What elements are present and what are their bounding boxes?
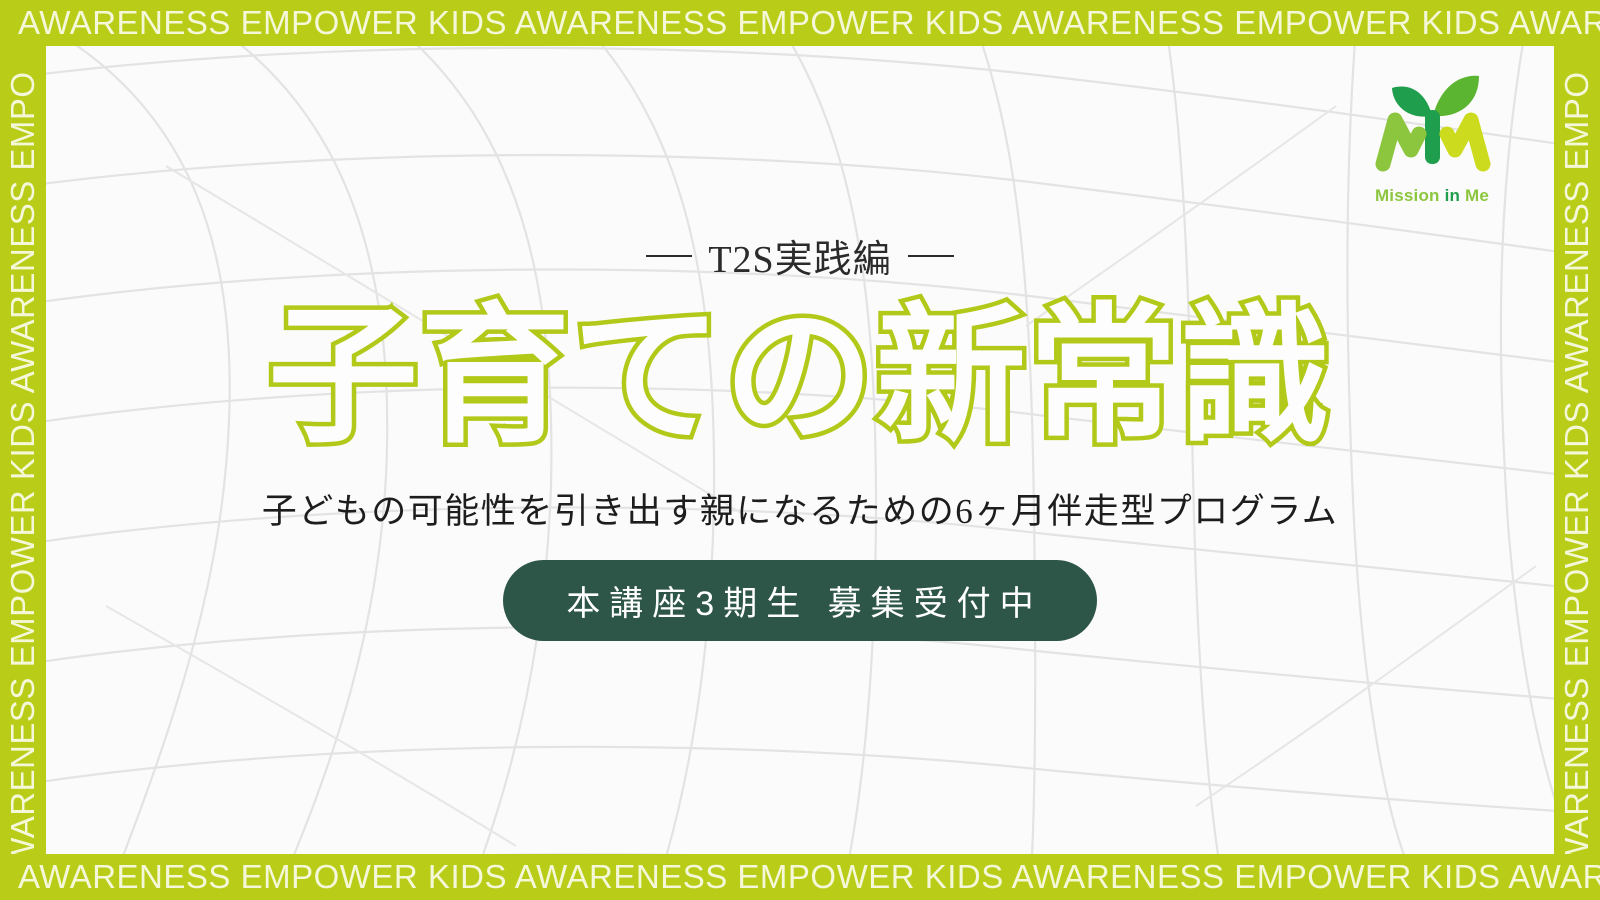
eyebrow-dash-right [908,255,954,257]
hero-headline-text: 子育ての新常識 [268,293,1332,461]
eyebrow-label: T2S実践編 [708,228,891,283]
marquee-bottom-text: AWARENESS EMPOWER KIDS AWARENESS EMPOWER… [0,854,1600,900]
hero-headline: 子育ての新常識 [268,293,1332,461]
marquee-band-top: AWARENESS EMPOWER KIDS AWARENESS EMPOWER… [0,0,1600,46]
marquee-right-rotator: AWARENESS EMPOWER KIDS AWARENESS EMPO [1554,0,1600,900]
marquee-band-bottom: AWARENESS EMPOWER KIDS AWARENESS EMPOWER… [0,854,1600,900]
hero-content: T2S実践編 子育ての新常識 子どもの可能性を引き出す親になるための6ヶ月伴走型… [46,46,1554,854]
marquee-top-text: AWARENESS EMPOWER KIDS AWARENESS EMPOWER… [0,0,1600,46]
marquee-band-left: AWARENESS EMPOWER KIDS AWARENESS EMPO [0,0,46,900]
poster-canvas: Mission in Me T2S実践編 子育ての新常識 子どもの可能性を引き出… [46,46,1554,854]
marquee-left-rotator: AWARENESS EMPOWER KIDS AWARENESS EMPO [0,0,46,900]
hero-eyebrow: T2S実践編 [646,228,953,283]
hero-subheadline: 子どもの可能性を引き出す親になるための6ヶ月伴走型プログラム [262,483,1338,534]
eyebrow-dash-left [646,255,692,257]
marquee-left-text: AWARENESS EMPOWER KIDS AWARENESS EMPO [0,71,46,900]
cta-badge[interactable]: 本講座3期生 募集受付中 [503,560,1096,641]
marquee-band-right: AWARENESS EMPOWER KIDS AWARENESS EMPO [1554,0,1600,900]
poster-root: AWARENESS EMPOWER KIDS AWARENESS EMPO AW… [0,0,1600,900]
marquee-right-text: AWARENESS EMPOWER KIDS AWARENESS EMPO [1554,71,1600,900]
